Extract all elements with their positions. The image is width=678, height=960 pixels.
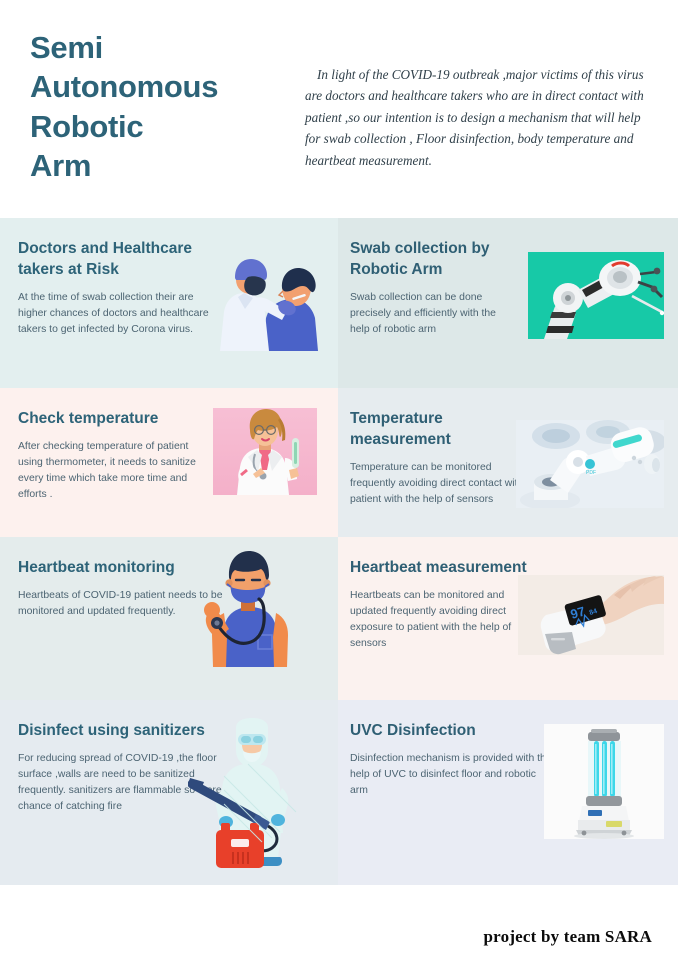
svg-text:PDF: PDF — [586, 470, 596, 476]
card-description: Temperature can be monitored frequently … — [350, 460, 530, 507]
female-doctor-photo — [213, 408, 317, 495]
card-title: Temperature measurement — [350, 408, 530, 450]
card-doctors-at-risk: Doctors and Healthcare takers at Risk At… — [0, 218, 338, 388]
pulse-oximeter-photo: 97 84 — [518, 575, 664, 655]
card-uvc-disinfection: UVC Disinfection Disinfection mechanism … — [338, 700, 678, 885]
card-title: Check temperature — [18, 408, 213, 429]
poster-footer: project by team SARA — [0, 885, 678, 960]
footer-credit: project by team SARA — [484, 927, 652, 947]
card-description: Heartbeats can be monitored and updated … — [350, 588, 535, 651]
card-description: Swab collection can be done precisely an… — [350, 290, 510, 337]
card-title: Heartbeat measurement — [350, 557, 535, 578]
card-check-temperature: Check temperature After checking tempera… — [0, 388, 338, 537]
card-heartbeat-monitoring: Heartbeat monitoring Heartbeats of COVID… — [0, 537, 338, 700]
card-title: UVC Disinfection — [350, 720, 555, 741]
card-title: Swab collection by Robotic Arm — [350, 238, 510, 280]
nurse-stethoscope-illustration — [186, 547, 306, 667]
page-title-line-2: Autonomous — [30, 67, 300, 106]
robotic-arm-photo — [528, 252, 664, 339]
card-title: Doctors and Healthcare takers at Risk — [18, 238, 218, 280]
swab-collection-illustration — [208, 246, 320, 351]
page-title: Semi Autonomous Robotic Arm — [30, 28, 300, 185]
card-description: After checking temperature of patient us… — [18, 439, 213, 502]
card-description: Disinfection mechanism is provided with … — [350, 751, 555, 798]
content-grid: Doctors and Healthcare takers at Risk At… — [0, 218, 678, 885]
card-temperature-measurement: Temperature measurement Temperature can … — [338, 388, 678, 537]
uvc-robot-photo — [544, 724, 664, 839]
poster-header: Semi Autonomous Robotic Arm In light of … — [0, 0, 678, 218]
page-title-line-4: Arm — [30, 146, 300, 185]
card-disinfect-using-sanitizers: Disinfect using sanitizers For reducing … — [0, 700, 338, 885]
hazmat-sprayer-illustration — [188, 718, 316, 868]
card-swab-collection-robotic-arm: Swab collection by Robotic Arm Swab coll… — [338, 218, 678, 388]
intro-paragraph: In light of the COVID-19 outbreak ,major… — [305, 64, 655, 171]
card-heartbeat-measurement: Heartbeat measurement Heartbeats can be … — [338, 537, 678, 700]
page-title-line-1: Semi — [30, 28, 300, 67]
card-description: At the time of swab collection their are… — [18, 290, 218, 337]
page-title-line-3: Robotic — [30, 107, 300, 146]
temperature-robot-photo: PDF — [516, 420, 664, 508]
